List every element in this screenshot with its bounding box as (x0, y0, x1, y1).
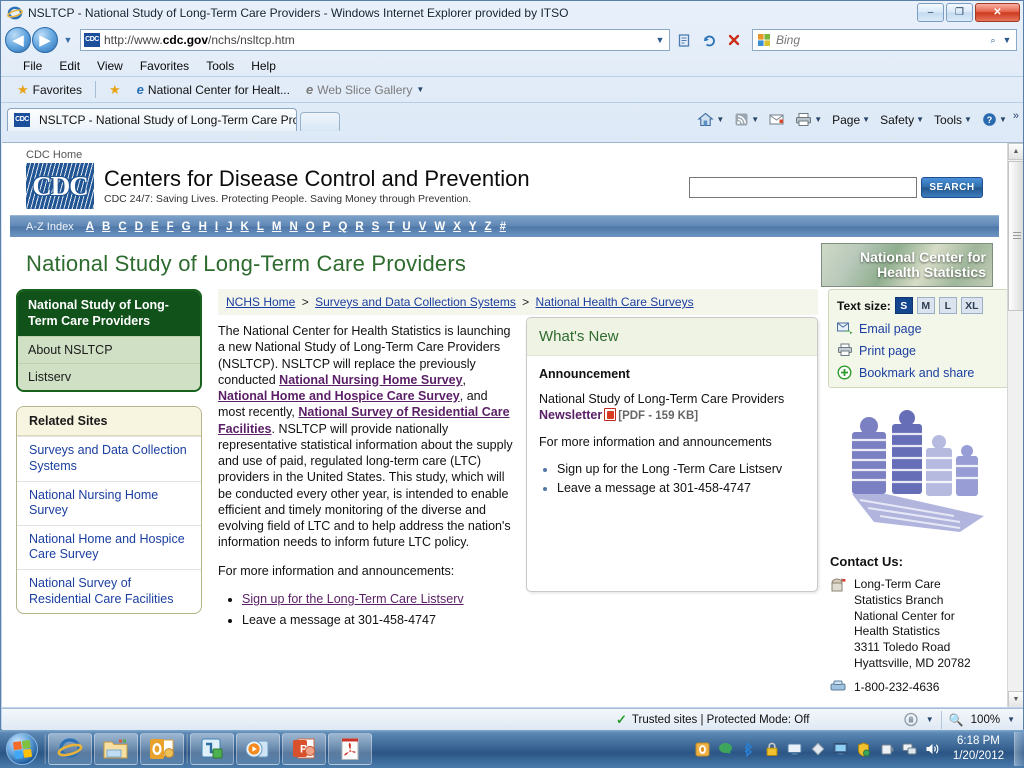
taskbar-clock[interactable]: 6:18 PM 1/20/2012 (945, 734, 1012, 764)
contact-line-4: Health Statistics (854, 624, 940, 638)
related-link-nursing-home-survey[interactable]: National Nursing Home Survey (17, 481, 201, 525)
menu-tools[interactable]: Tools (198, 57, 242, 75)
browser-window: NSLTCP - National Study of Long-Term Car… (0, 0, 1024, 730)
related-sites-header: Related Sites (17, 407, 201, 436)
browser-search-box[interactable]: Bing ⌕ ▼ (752, 29, 1017, 51)
link-national-home-hospice-survey[interactable]: National Home and Hospice Care Survey (218, 389, 460, 403)
az-letter-x[interactable]: X (449, 221, 465, 233)
outlook-tray-icon[interactable] (695, 741, 711, 757)
menu-favorites[interactable]: Favorites (132, 57, 197, 75)
security-lock-icon[interactable] (764, 741, 780, 757)
agency-title: Centers for Disease Control and Preventi… (104, 167, 530, 190)
back-button[interactable]: ◀ (5, 27, 31, 53)
cdc-home-link[interactable]: CDC Home (2, 143, 1007, 163)
az-letter-f[interactable]: F (163, 221, 178, 233)
page-menu-button[interactable]: Page ▼ (828, 111, 874, 129)
rss-icon (734, 112, 749, 127)
favorites-bar: ★ Favorites ★ e National Center for Heal… (1, 77, 1023, 103)
breadcrumb: NCHS Home > Surveys and Data Collection … (218, 289, 818, 315)
az-letter-r[interactable]: R (351, 221, 367, 233)
protected-mode-icon[interactable] (903, 712, 919, 727)
new-tab-button[interactable] (300, 112, 340, 131)
print-page-label: Print page (859, 344, 916, 358)
windows-taskbar: P (0, 730, 1024, 768)
lync-icon (199, 737, 225, 761)
az-letter-w[interactable]: W (430, 221, 449, 233)
safety-caret-icon[interactable]: ▼ (916, 115, 924, 124)
text-size-l[interactable]: L (939, 297, 957, 314)
intro-text-d: . NSLTCP will provide nationally represe… (218, 422, 513, 550)
list-item: Leave a message at 301-458-4747 (557, 480, 805, 497)
page-menu-label: Page (832, 113, 860, 127)
windows-flag (13, 740, 32, 759)
command-bar: ▼ ▼ (693, 110, 1019, 129)
scroll-down-arrow-icon[interactable]: ▼ (1008, 691, 1023, 707)
refresh-icon[interactable] (698, 29, 720, 51)
az-letter-o[interactable]: O (302, 221, 319, 233)
announcement-prefix: National Study of Long-Term Care Provide… (539, 392, 784, 406)
svg-text:?: ? (987, 115, 993, 125)
home-button[interactable]: ▼ (693, 110, 728, 129)
cdc-search-button[interactable]: SEARCH (921, 177, 983, 198)
bluetooth-icon[interactable] (741, 741, 757, 757)
text-size-label: Text size: (837, 299, 891, 313)
help-icon: ? (982, 112, 997, 127)
web-slice-gallery[interactable]: e Web Slice Gallery ▼ (300, 80, 430, 99)
contact-line-5: 3311 Toledo Road (854, 640, 950, 654)
az-letter-n[interactable]: N (285, 221, 301, 233)
text-size-s[interactable]: S (895, 297, 913, 314)
safety-menu-label: Safety (880, 113, 914, 127)
check-icon: ✓ (616, 712, 627, 728)
toolbar-divider (95, 81, 96, 98)
taskbar-divider (186, 734, 188, 764)
related-link-surveys-data-collection[interactable]: Surveys and Data Collection Systems (17, 436, 201, 480)
scrollbar-thumb[interactable] (1008, 161, 1023, 311)
security-zone-text: Trusted sites | Protected Mode: Off (632, 714, 809, 726)
cdc-logo-text: CDC (26, 163, 94, 209)
nchs-banner[interactable]: National Center for Health Statistics (821, 243, 993, 287)
home-icon (697, 112, 714, 127)
related-link-home-hospice-survey[interactable]: National Home and Hospice Care Survey (17, 525, 201, 569)
taskbar-media-player[interactable] (236, 733, 280, 765)
tools-menu-label: Tools (934, 113, 962, 127)
status-right: ▼ 🔍 100% ▼ (903, 711, 1023, 729)
window-titlebar: NSLTCP - National Study of Long-Term Car… (1, 1, 1023, 25)
az-letter-hash[interactable]: # (496, 221, 510, 233)
chevron-down-icon[interactable]: ▼ (416, 85, 424, 94)
zoom-level: 100% (971, 714, 1000, 726)
az-index-label: A-Z Index (26, 221, 74, 233)
list-item: Sign up for the Long-Term Care Listserv (242, 591, 516, 607)
help-caret-icon[interactable]: ▼ (999, 115, 1007, 124)
contact-phone: 1-800-232-4636 (854, 680, 939, 694)
az-letter-c[interactable]: C (114, 221, 130, 233)
telephone-icon (830, 680, 846, 695)
intro-text-b: , (463, 373, 466, 387)
address-text: http://www.cdc.gov/nchs/nsltcp.htm (104, 33, 653, 47)
taskbar-adobe-reader[interactable] (328, 733, 372, 765)
volume-icon[interactable] (925, 741, 941, 757)
zone-caret-icon[interactable]: ▼ (926, 715, 934, 724)
whats-new-panel: What's New Announcement National Study o… (526, 317, 818, 592)
az-letter-j[interactable]: J (222, 221, 236, 233)
display-icon[interactable] (833, 741, 849, 757)
tab-favicon: CDC (14, 113, 30, 127)
az-letter-h[interactable]: H (195, 221, 211, 233)
network-icon[interactable] (902, 741, 918, 757)
main-bullet-list: Sign up for the Long-Term Care Listserv … (218, 591, 516, 629)
home-caret-icon[interactable]: ▼ (716, 115, 724, 124)
whats-new-body: Announcement National Study of Long-Term… (527, 356, 817, 510)
az-letter-e[interactable]: E (147, 221, 163, 233)
taskbar-lync[interactable] (190, 733, 234, 765)
email-page-action[interactable]: Email page (837, 321, 1003, 336)
text-size-m[interactable]: M (917, 297, 935, 314)
diamond-icon[interactable] (810, 741, 826, 757)
folder-icon (103, 738, 129, 760)
text-size-control: Text size: S M L XL (837, 297, 1003, 314)
favorites-button[interactable]: ★ Favorites (11, 80, 88, 100)
command-bar-overflow-icon[interactable]: » (1013, 110, 1019, 122)
related-link-residential-care[interactable]: National Survey of Residential Care Faci… (17, 569, 201, 613)
web-slice-icon: e (306, 82, 313, 97)
az-letter-i[interactable]: I (211, 221, 222, 233)
windows-logo-icon (6, 733, 38, 765)
nchs-artwork (834, 404, 1006, 546)
list-item: Sign up for the Long -Term Care Listserv (557, 461, 805, 478)
print-caret-icon[interactable]: ▼ (814, 115, 822, 124)
printer-icon (837, 343, 853, 358)
taskbar-internet-explorer[interactable] (48, 733, 92, 765)
az-letter-b[interactable]: B (98, 221, 114, 233)
sidebar-item-about-nsltcp[interactable]: About NSLTCP (18, 336, 200, 363)
page-viewport: CDC Home CDC Centers for Disease Control… (2, 142, 1023, 707)
network-monitor-icon[interactable] (787, 741, 803, 757)
az-letter-l[interactable]: L (253, 221, 268, 233)
restore-button[interactable]: ❐ (946, 3, 973, 22)
scrollbar-grip-icon (1013, 232, 1021, 239)
bing-icon (757, 33, 771, 47)
ie-page-icon: e (137, 82, 144, 97)
az-letter-z[interactable]: Z (481, 221, 496, 233)
zoom-icon[interactable]: 🔍 (949, 713, 964, 727)
mail-icon (769, 113, 785, 126)
az-letter-g[interactable]: G (178, 221, 195, 233)
contact-line-2: Statistics Branch (854, 593, 943, 607)
search-go-icon[interactable]: ⌕ (986, 35, 1000, 46)
compatibility-view-icon[interactable] (673, 29, 695, 51)
close-button[interactable]: ✕ (975, 3, 1020, 22)
az-letter-y[interactable]: Y (465, 221, 481, 233)
link-newsletter-pdf[interactable]: Newsletter (539, 408, 602, 422)
scroll-up-arrow-icon[interactable]: ▲ (1008, 143, 1023, 160)
taskbar-pinned-group-2: P (190, 733, 372, 765)
menu-help[interactable]: Help (243, 57, 284, 75)
whats-new-bullet-list: Sign up for the Long -Term Care Listserv… (539, 461, 805, 497)
stop-icon[interactable] (723, 29, 745, 51)
az-letter-d[interactable]: D (131, 221, 147, 233)
internet-explorer-icon (7, 5, 23, 21)
tools-menu-button[interactable]: Tools ▼ (930, 111, 976, 129)
ie-icon (57, 736, 83, 762)
contact-line-3: National Center for (854, 609, 955, 623)
bookmark-share-icon (837, 365, 853, 380)
breadcrumb-separator: > (519, 295, 532, 309)
cdc-search-input[interactable] (689, 177, 917, 198)
favorites-label: Favorites (33, 83, 82, 97)
outlook-icon (149, 737, 175, 761)
right-sidebar: Text size: S M L XL (828, 289, 1007, 695)
shield-icon[interactable] (856, 741, 872, 757)
site-favicon: CDC (84, 33, 100, 47)
page-tools-box: Text size: S M L XL (828, 289, 1007, 388)
system-tray (695, 741, 945, 757)
lync-tray-icon[interactable] (718, 741, 734, 757)
zoom-caret-icon[interactable]: ▼ (1007, 715, 1015, 724)
page-scrollbar[interactable]: ▲ ▼ (1007, 143, 1023, 707)
menu-edit[interactable]: Edit (51, 57, 88, 75)
content-columns: The National Center for Health Statistic… (218, 317, 818, 633)
search-provider-caret[interactable]: ▼ (1000, 35, 1014, 45)
taskbar-pinned-group-1 (48, 733, 184, 765)
page-title-row: National Study of Long-Term Care Provide… (2, 237, 1007, 289)
contact-address-text: Long-Term Care Statistics Branch Nationa… (854, 577, 971, 672)
powerpoint-icon: P (291, 737, 317, 761)
cdc-search: SEARCH (689, 177, 983, 198)
list-item: Leave a message at 301-458-4747 (242, 612, 516, 628)
bookmark-share-label: Bookmark and share (859, 366, 974, 380)
pdf-icon (604, 408, 616, 421)
help-menu-button[interactable]: ? ▼ (978, 110, 1011, 129)
media-player-icon (245, 738, 271, 760)
page-body: National Study of Long-Term Care Provide… (2, 289, 1007, 695)
intro-paragraph: The National Center for Health Statistic… (218, 323, 516, 551)
window-controls: – ❐ ✕ (917, 3, 1020, 22)
taskbar-windows-explorer[interactable] (94, 733, 138, 765)
az-letter-s[interactable]: S (368, 221, 384, 233)
menu-bar: File Edit View Favorites Tools Help (1, 55, 1023, 77)
safety-menu-button[interactable]: Safety ▼ (876, 111, 928, 129)
favorite-link-nchs[interactable]: e National Center for Healt... (131, 80, 296, 99)
az-letter-m[interactable]: M (268, 221, 286, 233)
feeds-caret-icon[interactable]: ▼ (751, 115, 759, 124)
address-bar[interactable]: CDC http://www.cdc.gov/nchs/nsltcp.htm ▼ (80, 29, 670, 51)
contact-line-6: Hyattsville, MD 20782 (854, 656, 971, 670)
menu-file[interactable]: File (15, 57, 50, 75)
left-sidebar: National Study of Long-Term Care Provide… (16, 289, 202, 695)
az-letter-p[interactable]: P (319, 221, 335, 233)
taskbar-outlook[interactable] (140, 733, 184, 765)
web-slice-label: Web Slice Gallery (317, 83, 412, 97)
usb-icon[interactable] (879, 741, 895, 757)
read-mail-button[interactable] (765, 111, 789, 128)
announcement-label: Announcement (539, 366, 805, 383)
cdc-header: CDC Centers for Disease Control and Prev… (2, 163, 1007, 215)
printer-icon (795, 112, 812, 127)
page-caret-icon[interactable]: ▼ (862, 115, 870, 124)
print-button[interactable]: ▼ (791, 110, 826, 129)
cdc-logo[interactable]: CDC (26, 163, 94, 209)
feeds-button[interactable]: ▼ (730, 110, 763, 129)
az-letter-q[interactable]: Q (334, 221, 351, 233)
agency-tagline: CDC 24/7: Saving Lives. Protecting Peopl… (104, 193, 530, 205)
center-content: NCHS Home > Surveys and Data Collection … (202, 289, 828, 695)
forward-button[interactable]: ▶ (32, 27, 58, 53)
breadcrumb-item-surveys[interactable]: Surveys and Data Collection Systems (315, 295, 516, 309)
pdf-meta: [PDF - 159 KB] (618, 410, 698, 422)
taskbar-powerpoint[interactable]: P (282, 733, 326, 765)
az-letter-a[interactable]: A (82, 221, 98, 233)
text-size-xl[interactable]: XL (961, 297, 983, 314)
minimize-button[interactable]: – (917, 3, 944, 22)
star-icon: ★ (17, 82, 29, 98)
start-button[interactable] (2, 731, 42, 767)
favorite-link-label: National Center for Healt... (148, 83, 290, 97)
mailbox-icon (830, 577, 846, 592)
az-letter-t[interactable]: T (383, 221, 398, 233)
contact-line-1: Long-Term Care (854, 577, 941, 591)
cdc-titles: Centers for Disease Control and Preventi… (104, 163, 530, 205)
clock-time: 6:18 PM (953, 734, 1004, 749)
print-page-action[interactable]: Print page (837, 343, 1003, 358)
add-star-icon: ★ (109, 82, 121, 98)
contact-address: Long-Term Care Statistics Branch Nationa… (830, 577, 1007, 672)
window-title: NSLTCP - National Study of Long-Term Car… (28, 6, 568, 20)
web-page: CDC Home CDC Centers for Disease Control… (2, 143, 1007, 707)
az-letter-k[interactable]: K (237, 221, 253, 233)
breadcrumb-separator: > (299, 295, 312, 309)
bookmark-share-action[interactable]: Bookmark and share (837, 365, 1003, 380)
nchs-banner-line1: National Center for (860, 250, 986, 265)
email-icon (837, 321, 853, 336)
link-signup-listserv[interactable]: Sign up for the Long-Term Care Listserv (242, 592, 464, 606)
breadcrumb-item-nchs-home[interactable]: NCHS Home (226, 295, 295, 309)
announcement-text: National Study of Long-Term Care Provide… (539, 391, 805, 425)
taskbar-divider (44, 734, 46, 764)
contact-heading: Contact Us: (830, 554, 1007, 569)
tab-strip: CDC NSLTCP - National Study of Long-Term… (1, 103, 1023, 131)
whats-new-header: What's New (527, 318, 817, 356)
tab-label: NSLTCP - National Study of Long-Term Car… (39, 113, 297, 127)
adobe-reader-icon (339, 737, 361, 761)
tools-caret-icon[interactable]: ▼ (964, 115, 972, 124)
more-info-line: For more information and announcements: (218, 563, 516, 579)
menu-view[interactable]: View (89, 57, 131, 75)
link-national-nursing-home-survey[interactable]: National Nursing Home Survey (279, 373, 462, 387)
email-page-label: Email page (859, 322, 922, 336)
status-bar: ✓ Trusted sites | Protected Mode: Off ▼ … (2, 708, 1023, 730)
status-divider (941, 711, 942, 729)
nchs-banner-line2: Health Statistics (877, 265, 986, 280)
whats-new-more-info: For more information and announcements (539, 434, 805, 451)
address-dropdown-caret[interactable]: ▼ (653, 35, 667, 45)
navigation-bar: ◀ ▶ ▼ CDC http://www.cdc.gov/nchs/nsltcp… (1, 25, 1023, 55)
az-letter-u[interactable]: U (398, 221, 414, 233)
main-article: The National Center for Health Statistic… (218, 317, 516, 633)
site-navigation: National Study of Long-Term Care Provide… (16, 289, 202, 392)
recent-pages-caret[interactable]: ▼ (61, 35, 75, 45)
browser-search-value: Bing (776, 33, 986, 47)
add-to-favorites-bar-icon[interactable]: ★ (103, 80, 127, 100)
contact-phone-row: 1-800-232-4636 (830, 680, 1007, 695)
clock-date: 1/20/2012 (953, 749, 1004, 764)
browser-tab-active[interactable]: CDC NSLTCP - National Study of Long-Term… (7, 108, 297, 131)
az-letter-v[interactable]: V (415, 221, 431, 233)
az-index-bar: A-Z Index A B C D E F G H I J K L M N O … (10, 215, 999, 237)
security-zone[interactable]: ✓ Trusted sites | Protected Mode: Off (616, 712, 809, 728)
breadcrumb-item-health-care-surveys[interactable]: National Health Care Surveys (536, 295, 694, 309)
related-sites-box: Related Sites Surveys and Data Collectio… (16, 406, 202, 614)
sidebar-item-listserv[interactable]: Listserv (18, 363, 200, 390)
show-desktop-button[interactable] (1014, 732, 1024, 766)
sidebar-header: National Study of Long-Term Care Provide… (18, 291, 200, 336)
